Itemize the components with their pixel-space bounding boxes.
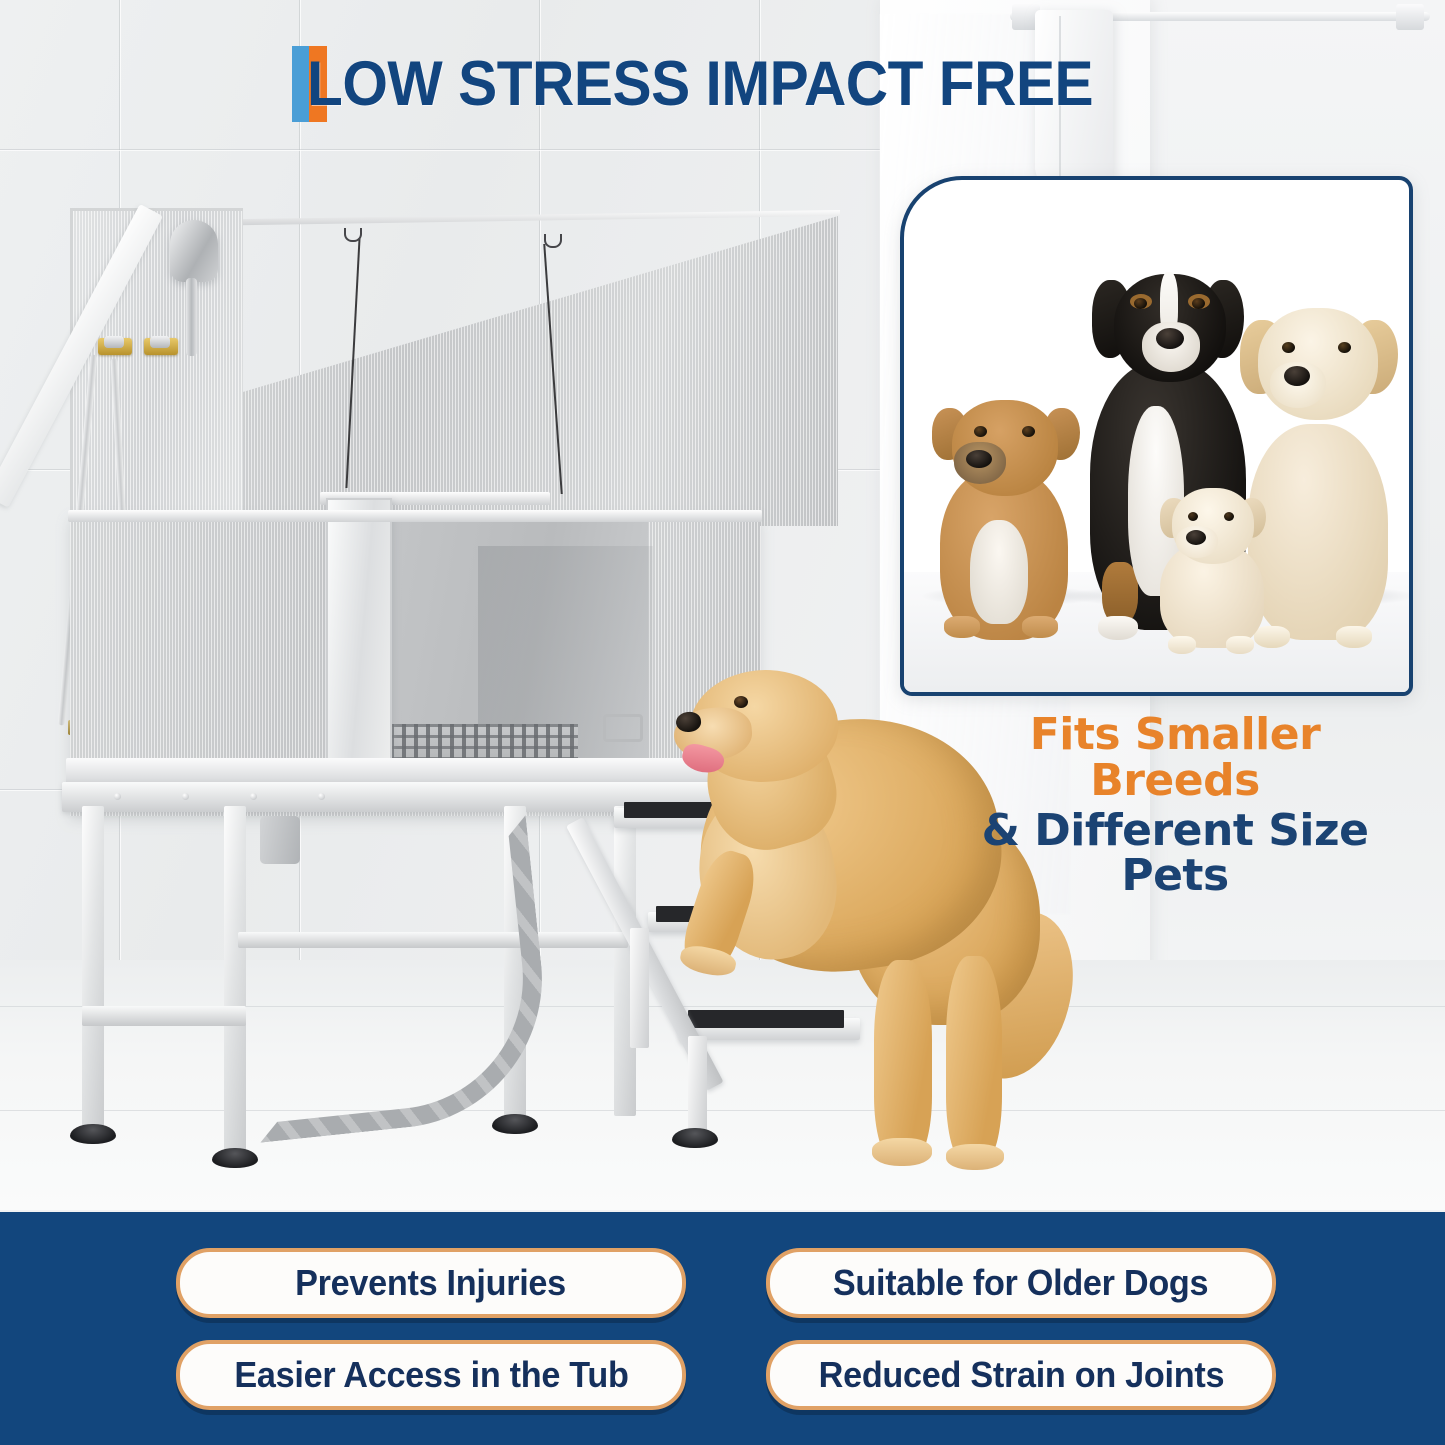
dogA-nose xyxy=(966,450,992,468)
cable-hook-left xyxy=(344,228,362,242)
dogC-eye-right xyxy=(1224,512,1234,521)
dogD-eye-right xyxy=(1338,342,1351,353)
dogA-paw-left xyxy=(944,616,980,638)
sliding-door[interactable] xyxy=(326,498,392,762)
dogD-nose xyxy=(1284,366,1310,386)
panel-dog-cream-puppy xyxy=(1152,486,1272,658)
dogD-head xyxy=(1258,308,1378,420)
feature-pill-prevents-injuries: Prevents Injuries xyxy=(176,1248,686,1318)
dogA-chest xyxy=(970,520,1028,624)
feature-pill-label: Reduced Strain on Joints xyxy=(818,1354,1224,1396)
cable-hook-right xyxy=(544,234,562,248)
panel-dog-tan-mixed-breed xyxy=(926,392,1086,644)
caption-line-2: & Different Size Pets xyxy=(940,808,1410,900)
shower-sprayer-head xyxy=(170,220,218,282)
perforated-drain-floor xyxy=(378,724,578,760)
feature-pill-reduced-strain: Reduced Strain on Joints xyxy=(766,1340,1276,1410)
dog-hind-leg-left xyxy=(874,960,932,1160)
feature-pill-easier-access: Easier Access in the Tub xyxy=(176,1340,686,1410)
sprayer-neck xyxy=(186,278,197,356)
dogB-paw-left xyxy=(1098,616,1138,640)
dogA-paw-right xyxy=(1022,616,1058,638)
feature-pill-grid: Prevents Injuries Suitable for Older Dog… xyxy=(176,1248,1276,1410)
dogC-eye-left xyxy=(1188,512,1198,521)
dogB-nose xyxy=(1156,328,1184,349)
feature-pill-label: Suitable for Older Dogs xyxy=(833,1262,1208,1304)
dogB-eye-right xyxy=(1192,298,1205,309)
dog-hind-paw-left xyxy=(872,1138,932,1166)
tub-leg-front-left xyxy=(82,806,104,1134)
rubber-foot-3 xyxy=(492,1114,538,1134)
panel-caption: Fits Smaller Breeds & Different Size Pet… xyxy=(940,712,1410,899)
leg-crossbar-front xyxy=(82,1006,246,1026)
dogD-eye-left xyxy=(1282,342,1295,353)
feature-pill-label: Easier Access in the Tub xyxy=(234,1354,628,1396)
dog-hind-paw-right xyxy=(946,1144,1004,1170)
rubber-foot-2 xyxy=(212,1148,258,1168)
dogC-nose xyxy=(1186,530,1206,545)
page-title: LOW STRESS IMPACT FREE xyxy=(307,47,1093,121)
headline-block: LOW STRESS IMPACT FREE xyxy=(292,46,1152,122)
splash-back-top-edge xyxy=(188,210,840,226)
feature-pill-suitable-older-dogs: Suitable for Older Dogs xyxy=(766,1248,1276,1318)
fits-smaller-breeds-panel xyxy=(900,176,1413,696)
tub-rim xyxy=(68,510,762,522)
splash-back-panel xyxy=(188,216,838,526)
dogC-paw-left xyxy=(1168,636,1196,654)
dogC-paw-right xyxy=(1226,636,1254,654)
tub-pull-handle xyxy=(603,714,643,742)
feature-footer: Prevents Injuries Suitable for Older Dog… xyxy=(0,1212,1445,1445)
stair-leg-middle xyxy=(630,928,649,1048)
caption-line-1: Fits Smaller Breeds xyxy=(940,712,1410,804)
dog-hind-leg-right xyxy=(946,956,1002,1162)
rubber-foot-1 xyxy=(70,1124,116,1144)
dogB-tan-marking-left xyxy=(1102,562,1138,624)
product-infographic: LOW STRESS IMPACT FREE xyxy=(0,0,1445,1445)
feature-pill-label: Prevents Injuries xyxy=(296,1262,567,1304)
dogA-eye-left xyxy=(974,426,987,437)
dogB-eye-left xyxy=(1134,298,1147,309)
dogA-eye-right xyxy=(1022,426,1035,437)
dog-eye xyxy=(734,696,748,708)
dogD-paw-right xyxy=(1336,626,1372,648)
